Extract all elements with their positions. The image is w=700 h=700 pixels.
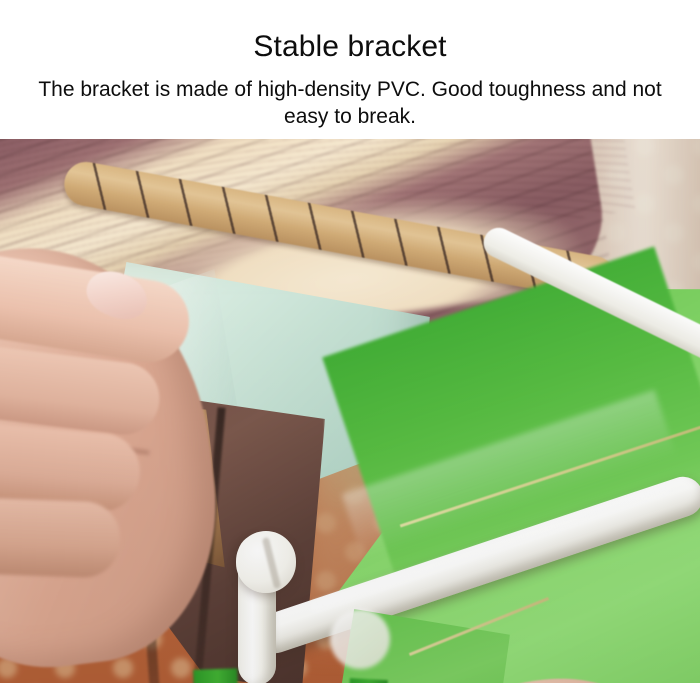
white-sleeve-cuff	[330, 609, 390, 669]
product-photo	[0, 139, 700, 683]
page-title: Stable bracket	[0, 29, 700, 65]
left-little-finger	[0, 495, 121, 578]
footer-white-band	[0, 683, 700, 700]
header-text-block: Stable bracket The bracket is made of hi…	[0, 0, 700, 139]
green-tent-leg-left	[193, 668, 243, 683]
page-subtitle: The bracket is made of high-density PVC.…	[0, 76, 700, 130]
product-detail-image: Stable bracket The bracket is made of hi…	[0, 0, 700, 700]
